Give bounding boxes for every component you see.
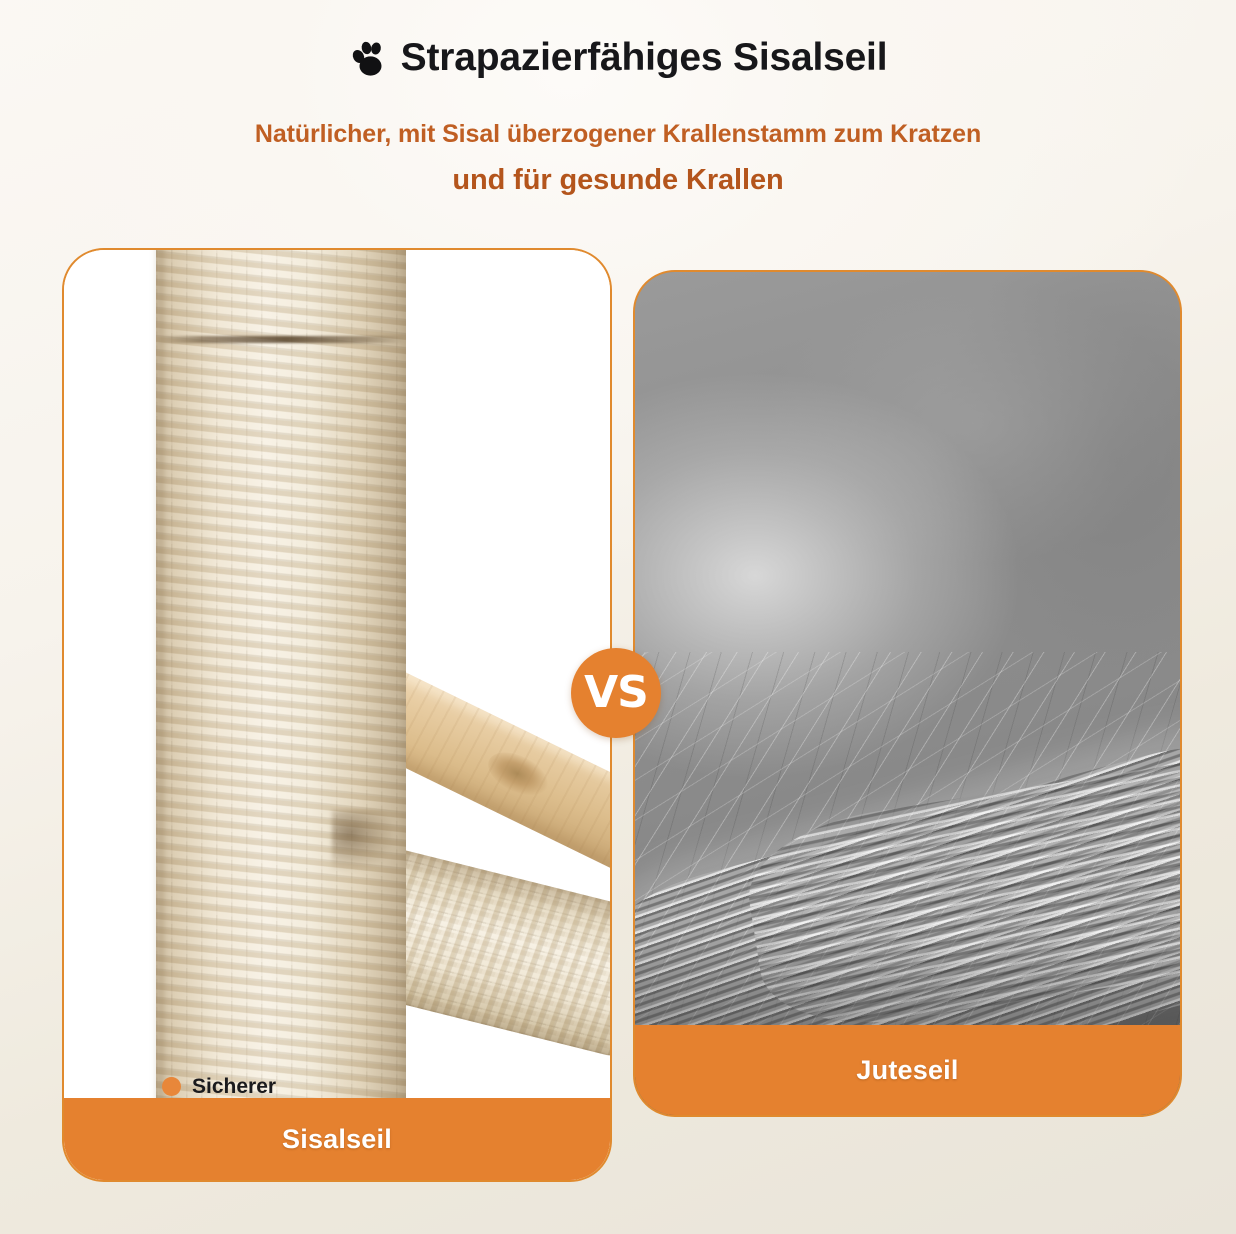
sisal-post <box>156 250 406 1180</box>
subtitle-line-2: und für gesunde Krallen <box>0 164 1236 197</box>
panel-label-sisal: Sisalseil <box>282 1124 392 1155</box>
list-item: Sicherer <box>162 1076 602 1097</box>
post-notch <box>332 810 392 870</box>
title-row: Strapazierfähiges Sisalseil <box>0 38 1236 84</box>
panel-label-bar-jute: Juteseil <box>635 1025 1180 1115</box>
comparison-panel-jute: Juteseil <box>633 270 1182 1117</box>
post-seam <box>156 336 406 343</box>
vs-badge-label: VS <box>584 671 648 715</box>
comparison-panel-sisal: Sicherer Lange Lebensdauer Kratzfest Dic… <box>62 248 612 1182</box>
subtitle-line-1: Natürlicher, mit Sisal überzogener Krall… <box>0 120 1236 149</box>
feature-label: Sicherer <box>192 1076 276 1097</box>
panel-label-bar-sisal: Sisalseil <box>64 1098 610 1180</box>
header: Strapazierfähiges Sisalseil Natürlicher,… <box>0 0 1236 232</box>
page-title: Strapazierfähiges Sisalseil <box>401 38 888 77</box>
bullet-dot-icon <box>162 1077 181 1096</box>
sisal-rope-image <box>64 250 610 1180</box>
vs-badge: VS <box>571 648 661 738</box>
panel-label-jute: Juteseil <box>856 1055 958 1086</box>
jute-rope-image <box>635 272 1180 1115</box>
paw-print-icon <box>349 40 389 84</box>
infographic-canvas: Strapazierfähiges Sisalseil Natürlicher,… <box>0 0 1236 1234</box>
